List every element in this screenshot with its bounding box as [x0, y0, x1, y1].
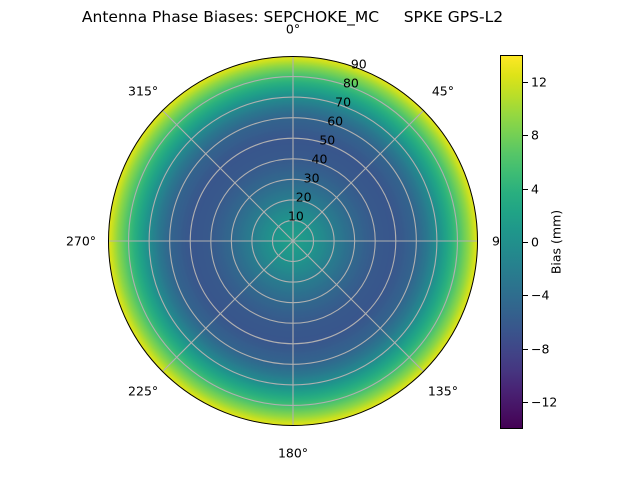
matplotlib-figure: Antenna Phase Biases: SEPCHOKE_MC SPKE G…: [0, 0, 640, 480]
colorbar-tick-label: 12: [531, 74, 547, 89]
radial-tick-label: 10: [288, 209, 304, 224]
colorbar-tick-mark: [523, 242, 528, 243]
colorbar-tick-mark: [523, 82, 528, 83]
colorbar-tick-label: −8: [531, 341, 549, 356]
colorbar-tick-mark: [523, 135, 528, 136]
colorbar-tick-mark: [523, 189, 528, 190]
polar-heatmap-fill: [108, 56, 478, 426]
radial-tick-label: 20: [296, 190, 312, 205]
radial-tick-label: 50: [319, 133, 335, 148]
colorbar-tick-label: −12: [531, 395, 557, 410]
colorbar-tick-mark: [523, 295, 528, 296]
radial-tick-label: 80: [343, 76, 359, 91]
theta-tick-label: 270°: [66, 234, 96, 249]
theta-tick-label: 225°: [128, 383, 158, 398]
colorbar-gradient: [500, 55, 523, 429]
polar-axes[interactable]: [108, 56, 478, 426]
colorbar-tick-label: 0: [531, 235, 539, 250]
theta-tick-label: 135°: [428, 383, 458, 398]
colorbar-tick-label: 8: [531, 128, 539, 143]
colorbar-axis-label: Bias (mm): [549, 210, 564, 274]
radial-tick-label: 40: [312, 152, 328, 167]
radial-tick-label: 90: [351, 57, 367, 72]
theta-tick-label: 0°: [286, 22, 300, 37]
colorbar-tick-mark: [523, 349, 528, 350]
radial-tick-label: 70: [335, 95, 351, 110]
radial-tick-label: 60: [327, 114, 343, 129]
theta-tick-label: 180°: [278, 446, 308, 461]
radial-tick-label: 30: [304, 171, 320, 186]
colorbar-tick-label: −4: [531, 288, 549, 303]
colorbar-tick-mark: [523, 402, 528, 403]
colorbar[interactable]: −12−8−404812: [500, 55, 523, 429]
polar-data-disc: [108, 56, 478, 426]
theta-tick-label: 315°: [128, 84, 158, 99]
theta-tick-label: 45°: [432, 84, 454, 99]
colorbar-tick-label: 4: [531, 181, 539, 196]
